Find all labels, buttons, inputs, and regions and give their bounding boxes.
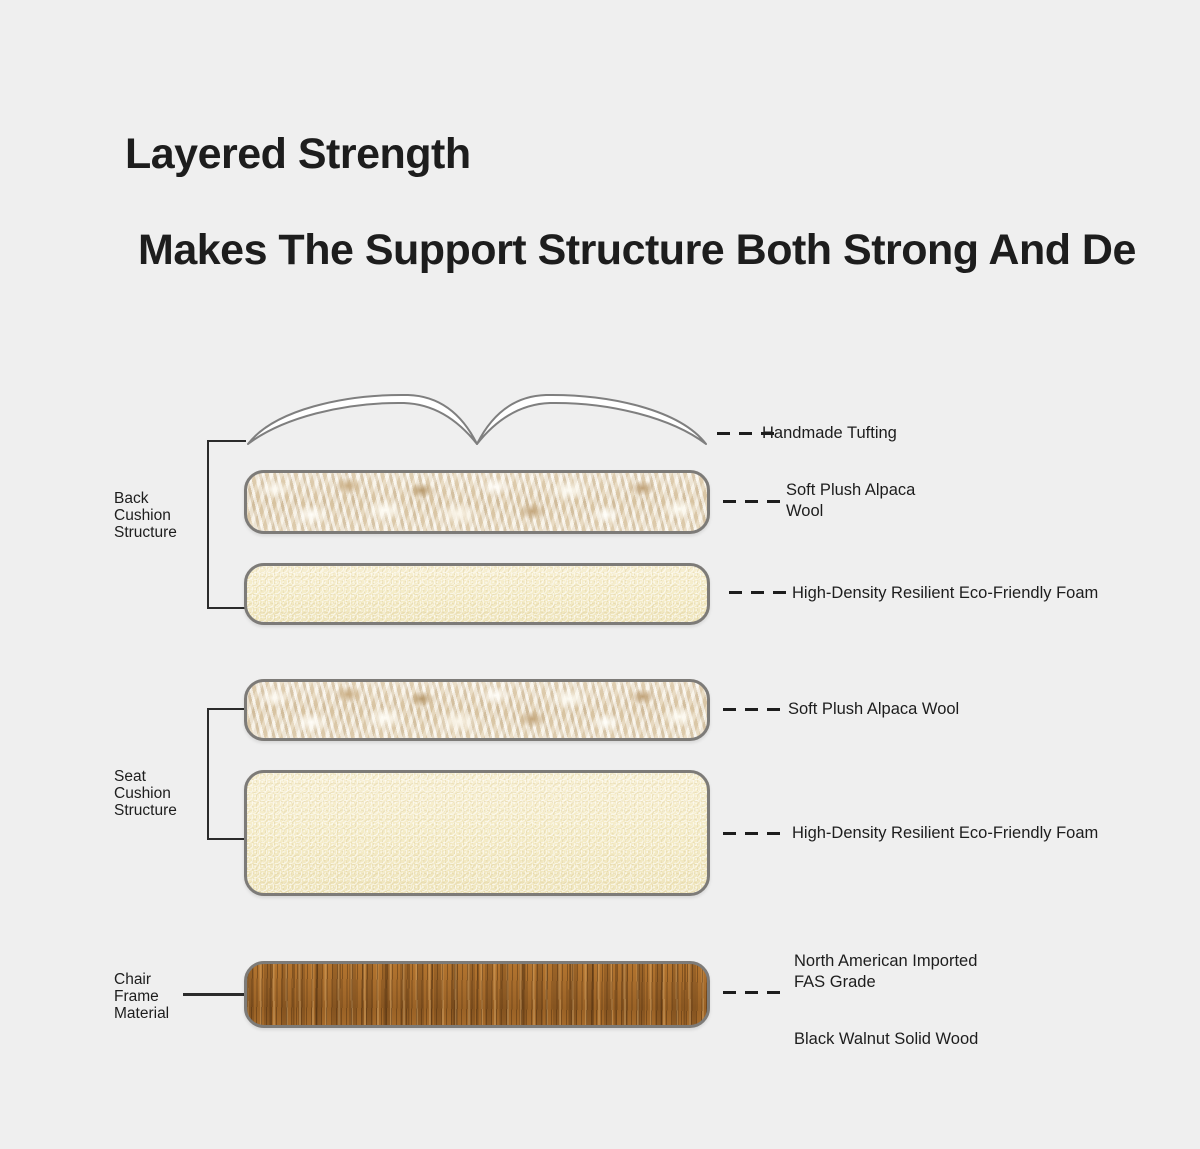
dashed-connector-seat-wool xyxy=(723,708,780,711)
bracket-back-cushion xyxy=(207,440,246,609)
group-label-chair-frame-material: Chair Frame Material xyxy=(114,971,169,1022)
bracket-seat-cushion xyxy=(207,708,246,840)
layer-seat-alpaca-wool xyxy=(244,679,710,741)
group-label-back-cushion-structure: Back Cushion Structure xyxy=(114,490,177,541)
callout-frame-wood-species: Black Walnut Solid Wood xyxy=(794,1029,978,1050)
product-feature-page: Layered Strength Makes The Support Struc… xyxy=(0,0,1200,1149)
handmade-tufting-arcs-icon xyxy=(244,392,710,448)
dashed-connector-frame-wood xyxy=(723,991,780,994)
callout-seat-eco-foam: High-Density Resilient Eco-Friendly Foam xyxy=(792,823,1098,844)
callout-back-alpaca-wool: Soft Plush Alpaca Wool xyxy=(786,480,915,522)
dashed-connector-seat-foam xyxy=(723,832,780,835)
layer-back-eco-foam xyxy=(244,563,710,625)
callout-back-eco-foam: High-Density Resilient Eco-Friendly Foam xyxy=(792,583,1098,604)
layer-back-alpaca-wool xyxy=(244,470,710,534)
layer-structure-diagram: Back Cushion Structure Seat Cushion Stru… xyxy=(0,0,1200,1149)
leader-line-chair-frame xyxy=(183,993,245,996)
dashed-connector-back-foam xyxy=(729,591,786,594)
callout-frame-wood-origin: North American Imported FAS Grade xyxy=(794,951,978,993)
layer-seat-eco-foam xyxy=(244,770,710,896)
callout-frame-wood-group: North American Imported FAS Grade Black … xyxy=(794,951,978,1050)
group-label-seat-cushion-structure: Seat Cushion Structure xyxy=(114,768,177,819)
callout-seat-alpaca-wool: Soft Plush Alpaca Wool xyxy=(788,699,959,720)
callout-handmade-tufting: Handmade Tufting xyxy=(762,423,897,444)
layer-frame-black-walnut-wood xyxy=(244,961,710,1028)
dashed-connector-back-wool xyxy=(723,500,780,503)
